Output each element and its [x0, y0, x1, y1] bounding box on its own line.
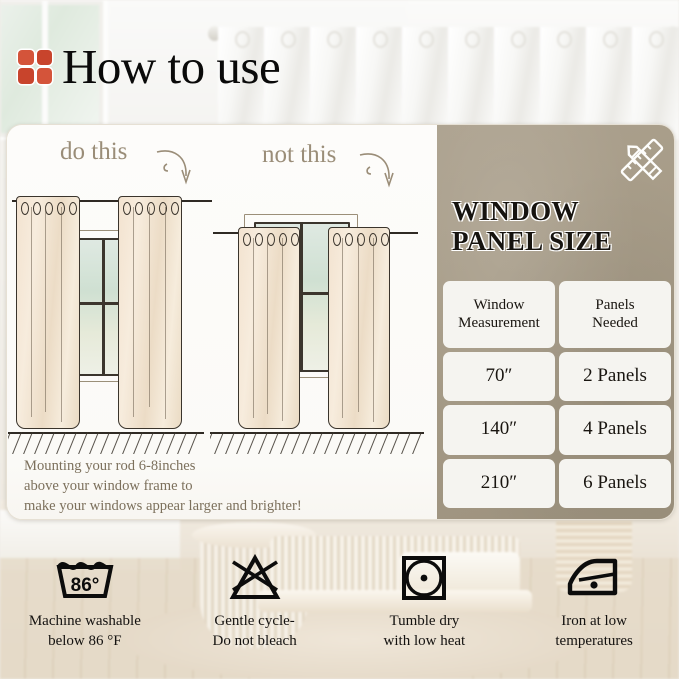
not-this-label: not this	[262, 141, 336, 169]
care-label-line-2: below 86 °F	[29, 632, 141, 652]
header-line-1: Panels	[592, 296, 638, 314]
wash-temp-value: 86°	[71, 575, 100, 596]
background-grommet-icon	[465, 31, 480, 48]
how-to-use-infographic: How to use do this not this	[0, 0, 679, 679]
four-squares-icon	[18, 50, 52, 84]
care-label-line-2: Do not bleach	[213, 632, 297, 652]
header-line-1: Window	[458, 296, 540, 314]
panel-size-table: Window Measurement Panels Needed 70″ 2 P…	[443, 281, 671, 508]
tumble-dry-low-icon	[398, 548, 450, 606]
window-panel-size-title: WINDOW PANEL SIZE	[452, 196, 652, 256]
floor-hatching	[8, 432, 204, 454]
iron-low-icon	[563, 548, 625, 606]
care-item-tumble-dry: Tumble dry with low heat	[340, 548, 510, 651]
care-label-line-1: Tumble dry	[384, 612, 466, 632]
care-item-machine-wash: 86° Machine washable below 86 °F	[0, 548, 170, 651]
care-label-line-1: Machine washable	[29, 612, 141, 632]
header-line-2: Measurement	[458, 314, 540, 332]
ruler-pencil-icon	[615, 133, 669, 187]
background-grommet-icon	[649, 31, 664, 48]
grommet-rings	[243, 233, 300, 246]
page-title: How to use	[62, 42, 280, 91]
grommet-rings	[123, 202, 182, 215]
background-grommet-icon	[373, 31, 388, 48]
table-cell-measurement: 70″	[443, 352, 555, 401]
curtain-illustrations	[8, 170, 433, 460]
table-header-window-measurement: Window Measurement	[443, 281, 555, 348]
care-instructions-row: 86° Machine washable below 86 °F Gentle …	[0, 548, 679, 651]
note-line-2: above your window frame to	[24, 477, 302, 497]
note-line-3: make your windows appear larger and brig…	[24, 497, 302, 517]
background-grommet-icon	[281, 31, 296, 48]
curtain-panel-not-left	[238, 227, 300, 429]
care-item-no-bleach: Gentle cycle- Do not bleach	[170, 548, 340, 651]
page-header: How to use	[18, 42, 280, 91]
curtain-panel-not-right	[328, 227, 390, 429]
background-grommet-icon	[327, 31, 342, 48]
wash-tub-86-icon: 86°	[54, 548, 116, 606]
care-label-iron-low: Iron at low temperatures	[555, 612, 632, 651]
table-cell-panels: 4 Panels	[559, 405, 671, 454]
background-grommet-icon	[419, 31, 434, 48]
mounting-note: Mounting your rod 6-8inches above your w…	[24, 457, 302, 517]
care-label-no-bleach: Gentle cycle- Do not bleach	[213, 612, 297, 651]
background-grommet-icon	[603, 31, 618, 48]
table-cell-measurement: 210″	[443, 459, 555, 508]
curtain-panel-do-left	[16, 196, 80, 429]
title-line-2: PANEL SIZE	[452, 226, 652, 256]
background-grommet-icon	[511, 31, 526, 48]
care-label-line-1: Gentle cycle-	[213, 612, 297, 632]
care-label-machine-wash: Machine washable below 86 °F	[29, 612, 141, 651]
care-label-line-2: temperatures	[555, 632, 632, 652]
do-not-bleach-icon	[225, 548, 285, 606]
floor-hatching	[210, 432, 424, 454]
title-line-1: WINDOW	[452, 196, 652, 226]
background-grommet-icon	[557, 31, 572, 48]
table-cell-measurement: 140″	[443, 405, 555, 454]
curtain-panel-do-right	[118, 196, 182, 429]
table-cell-panels: 6 Panels	[559, 459, 671, 508]
header-line-2: Needed	[592, 314, 638, 332]
care-item-iron-low: Iron at low temperatures	[509, 548, 679, 651]
do-this-label: do this	[60, 138, 127, 166]
note-line-1: Mounting your rod 6-8inches	[24, 457, 302, 477]
table-cell-panels: 2 Panels	[559, 352, 671, 401]
care-label-line-2: with low heat	[384, 632, 466, 652]
table-header-panels-needed: Panels Needed	[559, 281, 671, 348]
grommet-rings	[21, 202, 80, 215]
care-label-line-1: Iron at low	[555, 612, 632, 632]
care-label-tumble-dry: Tumble dry with low heat	[384, 612, 466, 651]
